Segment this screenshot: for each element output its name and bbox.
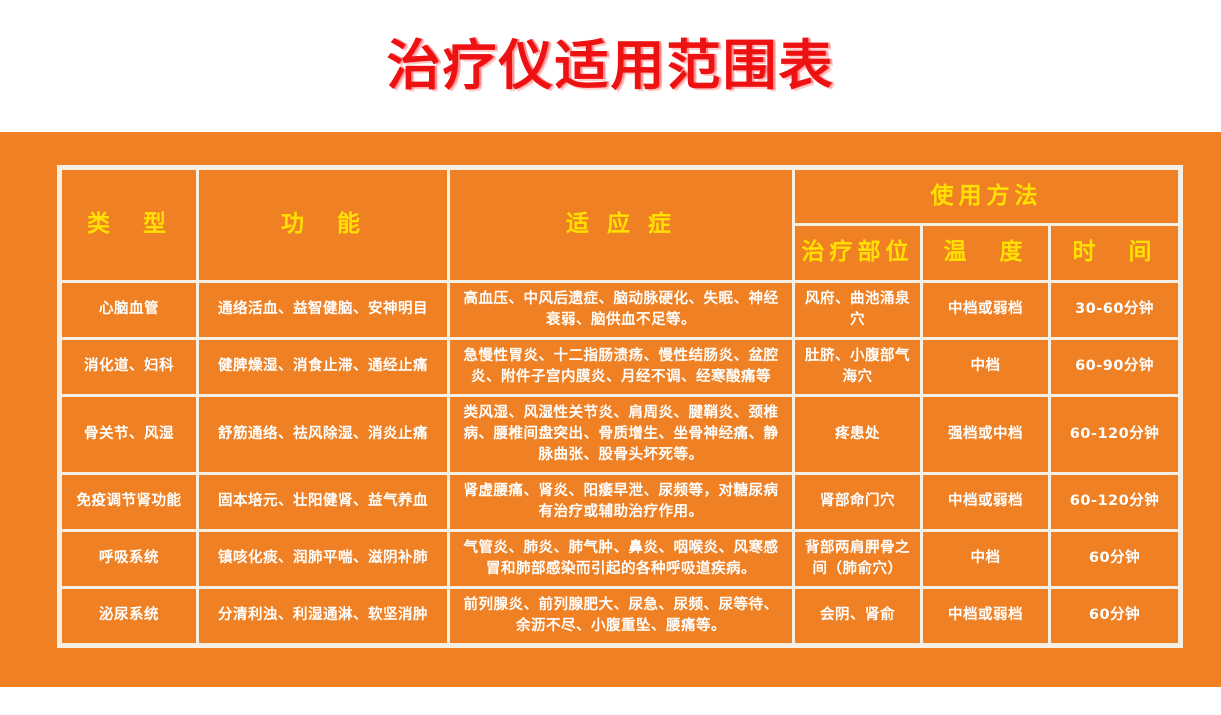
cell-time: 60分钟: [1051, 532, 1178, 586]
cell-function: 舒筋通络、祛风除湿、消炎止痛: [199, 397, 447, 472]
cell-symptoms: 前列腺炎、前列腺肥大、尿急、尿频、尿等待、余沥不尽、小腹重坠、腰痛等。: [450, 589, 792, 643]
header-type: 类 型: [62, 170, 196, 280]
cell-function: 镇咳化痰、润肺平喘、滋阴补肺: [199, 532, 447, 586]
header-row-top: 类 型 功 能 适 应 症 使用方法: [62, 170, 1178, 223]
cell-function: 通络活血、益智健脑、安神明目: [199, 283, 447, 337]
cell-time: 60分钟: [1051, 589, 1178, 643]
header-time: 时 间: [1051, 226, 1178, 279]
table-header: 类 型 功 能 适 应 症 使用方法 治疗部位 温 度 时 间: [62, 170, 1178, 280]
cell-type: 泌尿系统: [62, 589, 196, 643]
cell-symptoms: 气管炎、肺炎、肺气肿、鼻炎、咽喉炎、风寒感冒和肺部感染而引起的各种呼吸道疾病。: [450, 532, 792, 586]
page-root: 治疗仪适用范围表 类 型 功 能 适 应 症 使用方法 治疗部位 温 度 时 间: [0, 0, 1221, 715]
table-row: 心脑血管 通络活血、益智健脑、安神明目 高血压、中风后遗症、脑动脉硬化、失眠、神…: [62, 283, 1178, 337]
header-symptoms: 适 应 症: [450, 170, 792, 280]
cell-treatment-part: 肚脐、小腹部气海穴: [795, 340, 920, 394]
cell-treatment-part: 疼患处: [795, 397, 920, 472]
orange-banner: 类 型 功 能 适 应 症 使用方法 治疗部位 温 度 时 间 心脑血管 通络活…: [0, 132, 1221, 687]
cell-temperature: 中档或弱档: [923, 283, 1048, 337]
cell-symptoms: 急慢性胃炎、十二指肠溃疡、慢性结肠炎、盆腔炎、附件子宫内膜炎、月经不调、经寒酸痛…: [450, 340, 792, 394]
cell-temperature: 中档: [923, 340, 1048, 394]
cell-temperature: 中档或弱档: [923, 475, 1048, 529]
header-temperature: 温 度: [923, 226, 1048, 279]
table-row: 呼吸系统 镇咳化痰、润肺平喘、滋阴补肺 气管炎、肺炎、肺气肿、鼻炎、咽喉炎、风寒…: [62, 532, 1178, 586]
applicable-range-table: 类 型 功 能 适 应 症 使用方法 治疗部位 温 度 时 间 心脑血管 通络活…: [57, 165, 1183, 648]
cell-temperature: 强档或中档: [923, 397, 1048, 472]
table-row: 骨关节、风湿 舒筋通络、祛风除湿、消炎止痛 类风湿、风湿性关节炎、肩周炎、腱鞘炎…: [62, 397, 1178, 472]
cell-time: 60-90分钟: [1051, 340, 1178, 394]
header-function: 功 能: [199, 170, 447, 280]
cell-symptoms: 高血压、中风后遗症、脑动脉硬化、失眠、神经衰弱、脑供血不足等。: [450, 283, 792, 337]
cell-time: 60-120分钟: [1051, 475, 1178, 529]
cell-symptoms: 肾虚腰痛、肾炎、阳痿早泄、尿频等，对糖尿病有治疗或辅助治疗作用。: [450, 475, 792, 529]
table-row: 泌尿系统 分清利浊、利湿通淋、软坚消肿 前列腺炎、前列腺肥大、尿急、尿频、尿等待…: [62, 589, 1178, 643]
cell-function: 健脾燥湿、消食止滞、通经止痛: [199, 340, 447, 394]
cell-temperature: 中档: [923, 532, 1048, 586]
cell-treatment-part: 会阴、肾俞: [795, 589, 920, 643]
table-row: 免疫调节肾功能 固本培元、壮阳健肾、益气养血 肾虚腰痛、肾炎、阳痿早泄、尿频等，…: [62, 475, 1178, 529]
cell-function: 固本培元、壮阳健肾、益气养血: [199, 475, 447, 529]
cell-function: 分清利浊、利湿通淋、软坚消肿: [199, 589, 447, 643]
cell-time: 60-120分钟: [1051, 397, 1178, 472]
cell-treatment-part: 背部两肩胛骨之间（肺俞穴）: [795, 532, 920, 586]
cell-symptoms: 类风湿、风湿性关节炎、肩周炎、腱鞘炎、颈椎病、腰椎间盘突出、骨质增生、坐骨神经痛…: [450, 397, 792, 472]
table-body: 心脑血管 通络活血、益智健脑、安神明目 高血压、中风后遗症、脑动脉硬化、失眠、神…: [62, 283, 1178, 643]
cell-temperature: 中档或弱档: [923, 589, 1048, 643]
cell-time: 30-60分钟: [1051, 283, 1178, 337]
cell-treatment-part: 风府、曲池涌泉穴: [795, 283, 920, 337]
title-bar: 治疗仪适用范围表: [0, 0, 1221, 132]
table-row: 消化道、妇科 健脾燥湿、消食止滞、通经止痛 急慢性胃炎、十二指肠溃疡、慢性结肠炎…: [62, 340, 1178, 394]
header-usage-method: 使用方法: [795, 170, 1178, 223]
cell-type: 骨关节、风湿: [62, 397, 196, 472]
cell-type: 免疫调节肾功能: [62, 475, 196, 529]
cell-type: 消化道、妇科: [62, 340, 196, 394]
cell-type: 呼吸系统: [62, 532, 196, 586]
header-treatment-part: 治疗部位: [795, 226, 920, 279]
cell-treatment-part: 肾部命门穴: [795, 475, 920, 529]
cell-type: 心脑血管: [62, 283, 196, 337]
page-title: 治疗仪适用范围表: [387, 39, 835, 93]
